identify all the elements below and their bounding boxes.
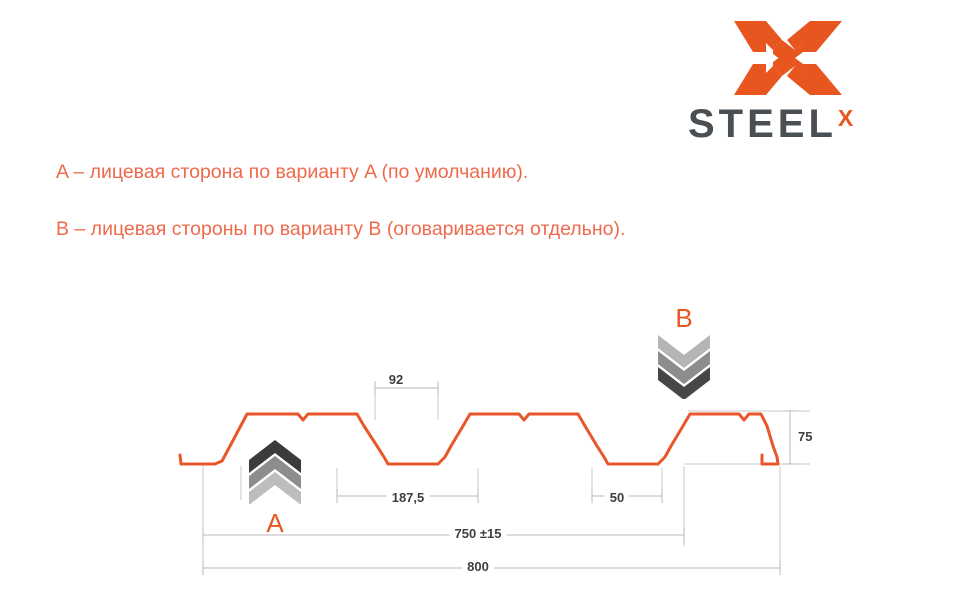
marker-b-letter: B bbox=[655, 303, 713, 334]
chevron-up-triple-icon bbox=[249, 440, 301, 504]
marker-a-letter: A bbox=[246, 508, 304, 539]
dimension-label-800: 800 bbox=[462, 559, 494, 574]
dimension-label-92: 92 bbox=[384, 372, 408, 387]
dimension-label-1875: 187,5 bbox=[387, 490, 430, 505]
dimension-label-750: 750 ±15 bbox=[450, 526, 507, 541]
profile-cross-section-drawing bbox=[0, 0, 970, 597]
dimension-label-50: 50 bbox=[605, 490, 629, 505]
chevron-down-triple-icon bbox=[658, 335, 710, 399]
marker-variant-a: A bbox=[246, 440, 304, 540]
dimension-label-75: 75 bbox=[793, 429, 817, 444]
technical-datasheet-page: STEEL X A – лицевая сторона по варианту … bbox=[0, 0, 970, 597]
marker-variant-b: B bbox=[655, 305, 713, 405]
